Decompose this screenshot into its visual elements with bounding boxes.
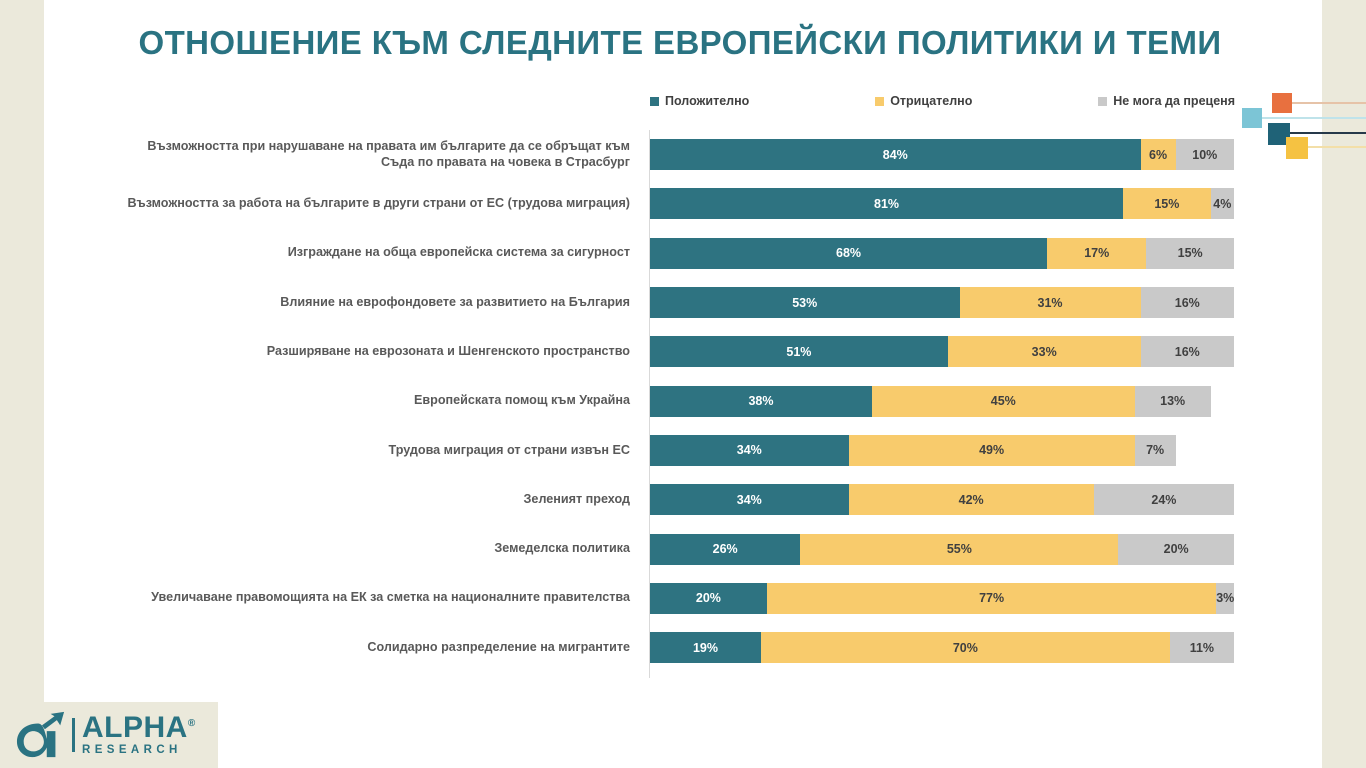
- bar-value-label: 24%: [1151, 493, 1176, 507]
- chart-title: ОТНОШЕНИЕ КЪМ СЛЕДНИТЕ ЕВРОПЕЙСКИ ПОЛИТИ…: [100, 24, 1260, 62]
- chart-row: Зеленият преход34%42%24%: [60, 475, 1240, 524]
- bar-segment-negative[interactable]: 15%: [1123, 188, 1211, 219]
- alpha-logo-mark-icon: [12, 710, 70, 760]
- category-label: Трудова миграция от страни извън ЕС: [60, 443, 640, 459]
- chart-row: Увеличаване правомощията на ЕК за сметка…: [60, 574, 1240, 623]
- stacked-bar: 34%49%7%: [650, 435, 1234, 466]
- legend-swatch-negative-icon: [875, 97, 884, 106]
- stacked-bar: 51%33%16%: [650, 336, 1234, 367]
- bar-segment-not-sure[interactable]: 24%: [1094, 484, 1234, 515]
- legend-label-negative: Отрицателно: [890, 94, 972, 108]
- category-label: Влияние на еврофондовете за развитието н…: [60, 295, 640, 311]
- stacked-bar: 53%31%16%: [650, 287, 1234, 318]
- bar-value-label: 4%: [1213, 197, 1231, 211]
- bar-value-label: 20%: [1164, 542, 1189, 556]
- bar-segment-not-sure[interactable]: 13%: [1135, 386, 1211, 417]
- bar-segment-positive[interactable]: 51%: [650, 336, 948, 367]
- bar-segment-negative[interactable]: 33%: [948, 336, 1141, 367]
- bar-value-label: 10%: [1192, 148, 1217, 162]
- stacked-bar: 20%77%3%: [650, 583, 1234, 614]
- bar-segment-not-sure[interactable]: 11%: [1170, 632, 1234, 663]
- bar-value-label: 70%: [953, 641, 978, 655]
- logo-wordmark: ALPHA® RESEARCH: [82, 713, 196, 757]
- bar-segment-positive[interactable]: 68%: [650, 238, 1047, 269]
- bar-segment-positive[interactable]: 53%: [650, 287, 960, 318]
- bar-value-label: 6%: [1149, 148, 1167, 162]
- category-label: Земеделска политика: [60, 541, 640, 557]
- bar-segment-not-sure[interactable]: 3%: [1216, 583, 1234, 614]
- logo-registered-mark: ®: [188, 718, 196, 729]
- deco-line-teal: [1280, 132, 1366, 134]
- logo-alpha-label: ALPHA: [82, 711, 188, 744]
- slide-canvas: ОТНОШЕНИЕ КЪМ СЛЕДНИТЕ ЕВРОПЕЙСКИ ПОЛИТИ…: [0, 0, 1366, 768]
- bar-value-label: 38%: [748, 394, 773, 408]
- chart-legend: Положително Отрицателно Не мога да преце…: [650, 94, 1235, 108]
- bar-value-label: 77%: [979, 591, 1004, 605]
- bar-segment-negative[interactable]: 45%: [872, 386, 1135, 417]
- bar-segment-positive[interactable]: 84%: [650, 139, 1141, 170]
- bar-value-label: 20%: [696, 591, 721, 605]
- chart-row: Изграждане на обща европейска система за…: [60, 229, 1240, 278]
- bar-segment-not-sure[interactable]: 15%: [1146, 238, 1234, 269]
- deco-line-orange: [1284, 102, 1366, 104]
- bar-value-label: 26%: [713, 542, 738, 556]
- stacked-bar: 84%6%10%: [650, 139, 1234, 170]
- stacked-bar: 19%70%11%: [650, 632, 1234, 663]
- category-label: Европейската помощ към Украйна: [60, 393, 640, 409]
- bar-value-label: 51%: [786, 345, 811, 359]
- chart-row: Солидарно разпределение на мигрантите19%…: [60, 623, 1240, 672]
- chart-row: Възможността при нарушаване на правата и…: [60, 130, 1240, 179]
- bar-segment-negative[interactable]: 42%: [849, 484, 1094, 515]
- category-label: Разширяване на еврозоната и Шенгенското …: [60, 344, 640, 360]
- legend-label-positive: Положително: [665, 94, 749, 108]
- bar-segment-negative[interactable]: 49%: [849, 435, 1135, 466]
- bar-value-label: 11%: [1190, 641, 1214, 655]
- bar-value-label: 7%: [1146, 443, 1164, 457]
- bar-segment-positive[interactable]: 81%: [650, 188, 1123, 219]
- category-label: Възможността при нарушаване на правата и…: [60, 139, 640, 170]
- bar-segment-not-sure[interactable]: 16%: [1141, 336, 1234, 367]
- category-label: Зеленият преход: [60, 492, 640, 508]
- bar-value-label: 16%: [1175, 296, 1200, 310]
- category-label: Увеличаване правомощията на ЕК за сметка…: [60, 590, 640, 606]
- bar-segment-positive[interactable]: 34%: [650, 484, 849, 515]
- legend-swatch-not-sure-icon: [1098, 97, 1107, 106]
- legend-item-positive[interactable]: Положително: [650, 94, 749, 108]
- bar-value-label: 16%: [1175, 345, 1200, 359]
- legend-item-negative[interactable]: Отрицателно: [875, 94, 972, 108]
- legend-swatch-positive-icon: [650, 97, 659, 106]
- bar-value-label: 49%: [979, 443, 1004, 457]
- bar-segment-negative[interactable]: 6%: [1141, 139, 1176, 170]
- chart-row: Влияние на еврофондовете за развитието н…: [60, 278, 1240, 327]
- bar-value-label: 3%: [1216, 591, 1234, 605]
- bar-value-label: 68%: [836, 246, 861, 260]
- chart-row: Трудова миграция от страни извън ЕС34%49…: [60, 426, 1240, 475]
- bar-value-label: 34%: [737, 443, 762, 457]
- bar-value-label: 45%: [991, 394, 1016, 408]
- bar-segment-positive[interactable]: 34%: [650, 435, 849, 466]
- decorative-squares-graphic: [1236, 86, 1366, 158]
- chart-rows-container: Възможността при нарушаване на правата и…: [60, 130, 1240, 672]
- bar-value-label: 55%: [947, 542, 972, 556]
- deco-line-yellow: [1298, 146, 1366, 148]
- bar-segment-positive[interactable]: 26%: [650, 534, 800, 565]
- bar-segment-negative[interactable]: 77%: [767, 583, 1217, 614]
- bar-value-label: 84%: [883, 148, 908, 162]
- chart-row: Европейската помощ към Украйна38%45%13%: [60, 376, 1240, 425]
- stacked-bar: 26%55%20%: [650, 534, 1234, 565]
- bar-value-label: 42%: [959, 493, 984, 507]
- stacked-bar: 81%15%4%: [650, 188, 1234, 219]
- category-label: Солидарно разпределение на мигрантите: [60, 640, 640, 656]
- logo-research-label: RESEARCH: [82, 745, 196, 757]
- stacked-bar: 38%45%13%: [650, 386, 1234, 417]
- bar-value-label: 17%: [1084, 246, 1109, 260]
- bar-value-label: 53%: [792, 296, 817, 310]
- logo-alpha-text: ALPHA®: [82, 713, 196, 743]
- chart-row: Земеделска политика26%55%20%: [60, 524, 1240, 573]
- bar-value-label: 13%: [1160, 394, 1185, 408]
- logo-divider: [72, 718, 75, 752]
- chart-row: Разширяване на еврозоната и Шенгенското …: [60, 327, 1240, 376]
- bar-value-label: 19%: [693, 641, 718, 655]
- deco-square-yellow: [1286, 137, 1308, 159]
- bar-value-label: 15%: [1154, 197, 1179, 211]
- bar-value-label: 15%: [1178, 246, 1203, 260]
- bar-segment-positive[interactable]: 19%: [650, 632, 761, 663]
- legend-label-not-sure: Не мога да преценя: [1113, 94, 1235, 108]
- bar-segment-negative[interactable]: 31%: [960, 287, 1141, 318]
- bar-segment-positive[interactable]: 20%: [650, 583, 767, 614]
- bar-segment-negative[interactable]: 70%: [761, 632, 1170, 663]
- stacked-bar-chart: Възможността при нарушаване на правата и…: [60, 130, 1240, 680]
- bar-segment-not-sure[interactable]: 10%: [1176, 139, 1234, 170]
- stacked-bar: 34%42%24%: [650, 484, 1234, 515]
- bar-segment-not-sure[interactable]: 4%: [1211, 188, 1234, 219]
- category-label: Възможността за работа на българите в др…: [60, 196, 640, 212]
- alpha-research-logo: ALPHA® RESEARCH: [0, 702, 218, 768]
- bar-value-label: 34%: [737, 493, 762, 507]
- bar-segment-negative[interactable]: 55%: [800, 534, 1118, 565]
- bar-segment-negative[interactable]: 17%: [1047, 238, 1146, 269]
- deco-square-lightblue: [1242, 108, 1262, 128]
- bar-segment-not-sure[interactable]: 20%: [1118, 534, 1234, 565]
- deco-square-orange: [1272, 93, 1292, 113]
- bar-segment-not-sure[interactable]: 16%: [1141, 287, 1234, 318]
- decorative-band-left: [0, 0, 44, 768]
- chart-row: Възможността за работа на българите в др…: [60, 179, 1240, 228]
- bar-segment-positive[interactable]: 38%: [650, 386, 872, 417]
- bar-value-label: 33%: [1032, 345, 1057, 359]
- stacked-bar: 68%17%15%: [650, 238, 1234, 269]
- category-label: Изграждане на обща европейска система за…: [60, 245, 640, 261]
- bar-value-label: 81%: [874, 197, 899, 211]
- deco-line-lightblue: [1254, 117, 1366, 119]
- bar-value-label: 31%: [1038, 296, 1063, 310]
- legend-item-not-sure[interactable]: Не мога да преценя: [1098, 94, 1235, 108]
- bar-segment-not-sure[interactable]: 7%: [1135, 435, 1176, 466]
